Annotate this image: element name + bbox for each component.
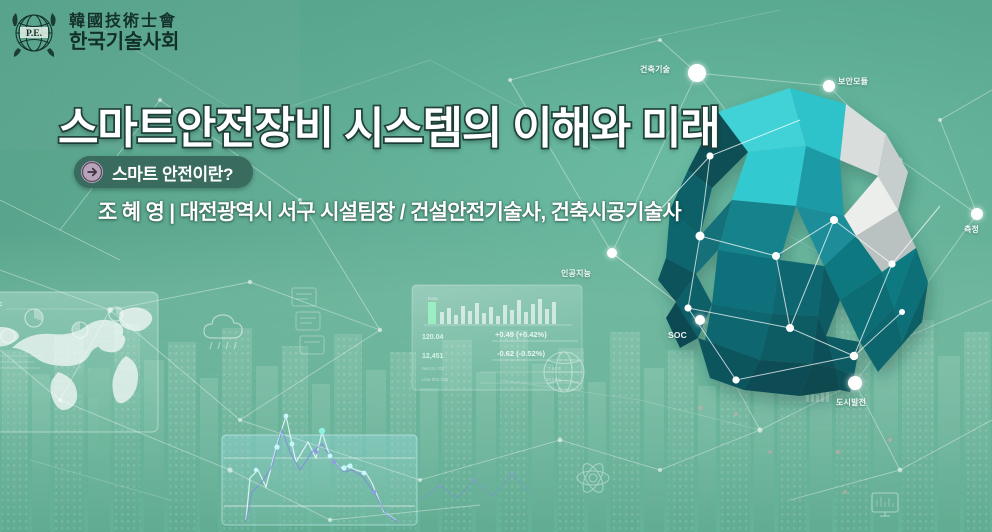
node-label-measurement: 측정 [964,224,979,235]
node-dot-soc [695,315,705,325]
node-label-ai: 인공지능 [561,268,591,279]
org-name-hanja: 韓國技術士會 [69,13,179,29]
node-dot-security-module [823,80,835,92]
slide-canvas: Graphic [0,0,992,532]
section-badge-label: 스마트 안전이란? [112,160,233,185]
node-dot-urban-development [848,376,862,390]
page-title: 스마트안전장비 시스템의 이해와 미래 [58,92,720,156]
presenter-line: 조 혜 영 | 대전광역시 서구 시설팀장 / 건설안전기술사, 건축시공기술사 [98,196,681,226]
node-label-urban-development: 도시발전 [836,397,866,408]
node-dot-architecture [688,64,706,82]
section-badge[interactable]: 스마트 안전이란? [74,156,253,188]
node-label-architecture: 건축기술 [640,64,670,75]
node-dot-ai [607,248,617,258]
circle-arrow-right-icon [81,161,103,183]
node-label-soc: SOC [668,330,687,340]
org-name-korean: 한국기술사회 [69,31,179,51]
node-dot-measurement [971,208,983,220]
globe-pe-emblem-icon: P.E. [8,6,60,58]
node-label-security-module: 보안모듈 [838,76,868,87]
organization-logo: P.E. 韓國技術士會 한국기술사회 [8,6,179,58]
svg-text:P.E.: P.E. [26,29,42,39]
